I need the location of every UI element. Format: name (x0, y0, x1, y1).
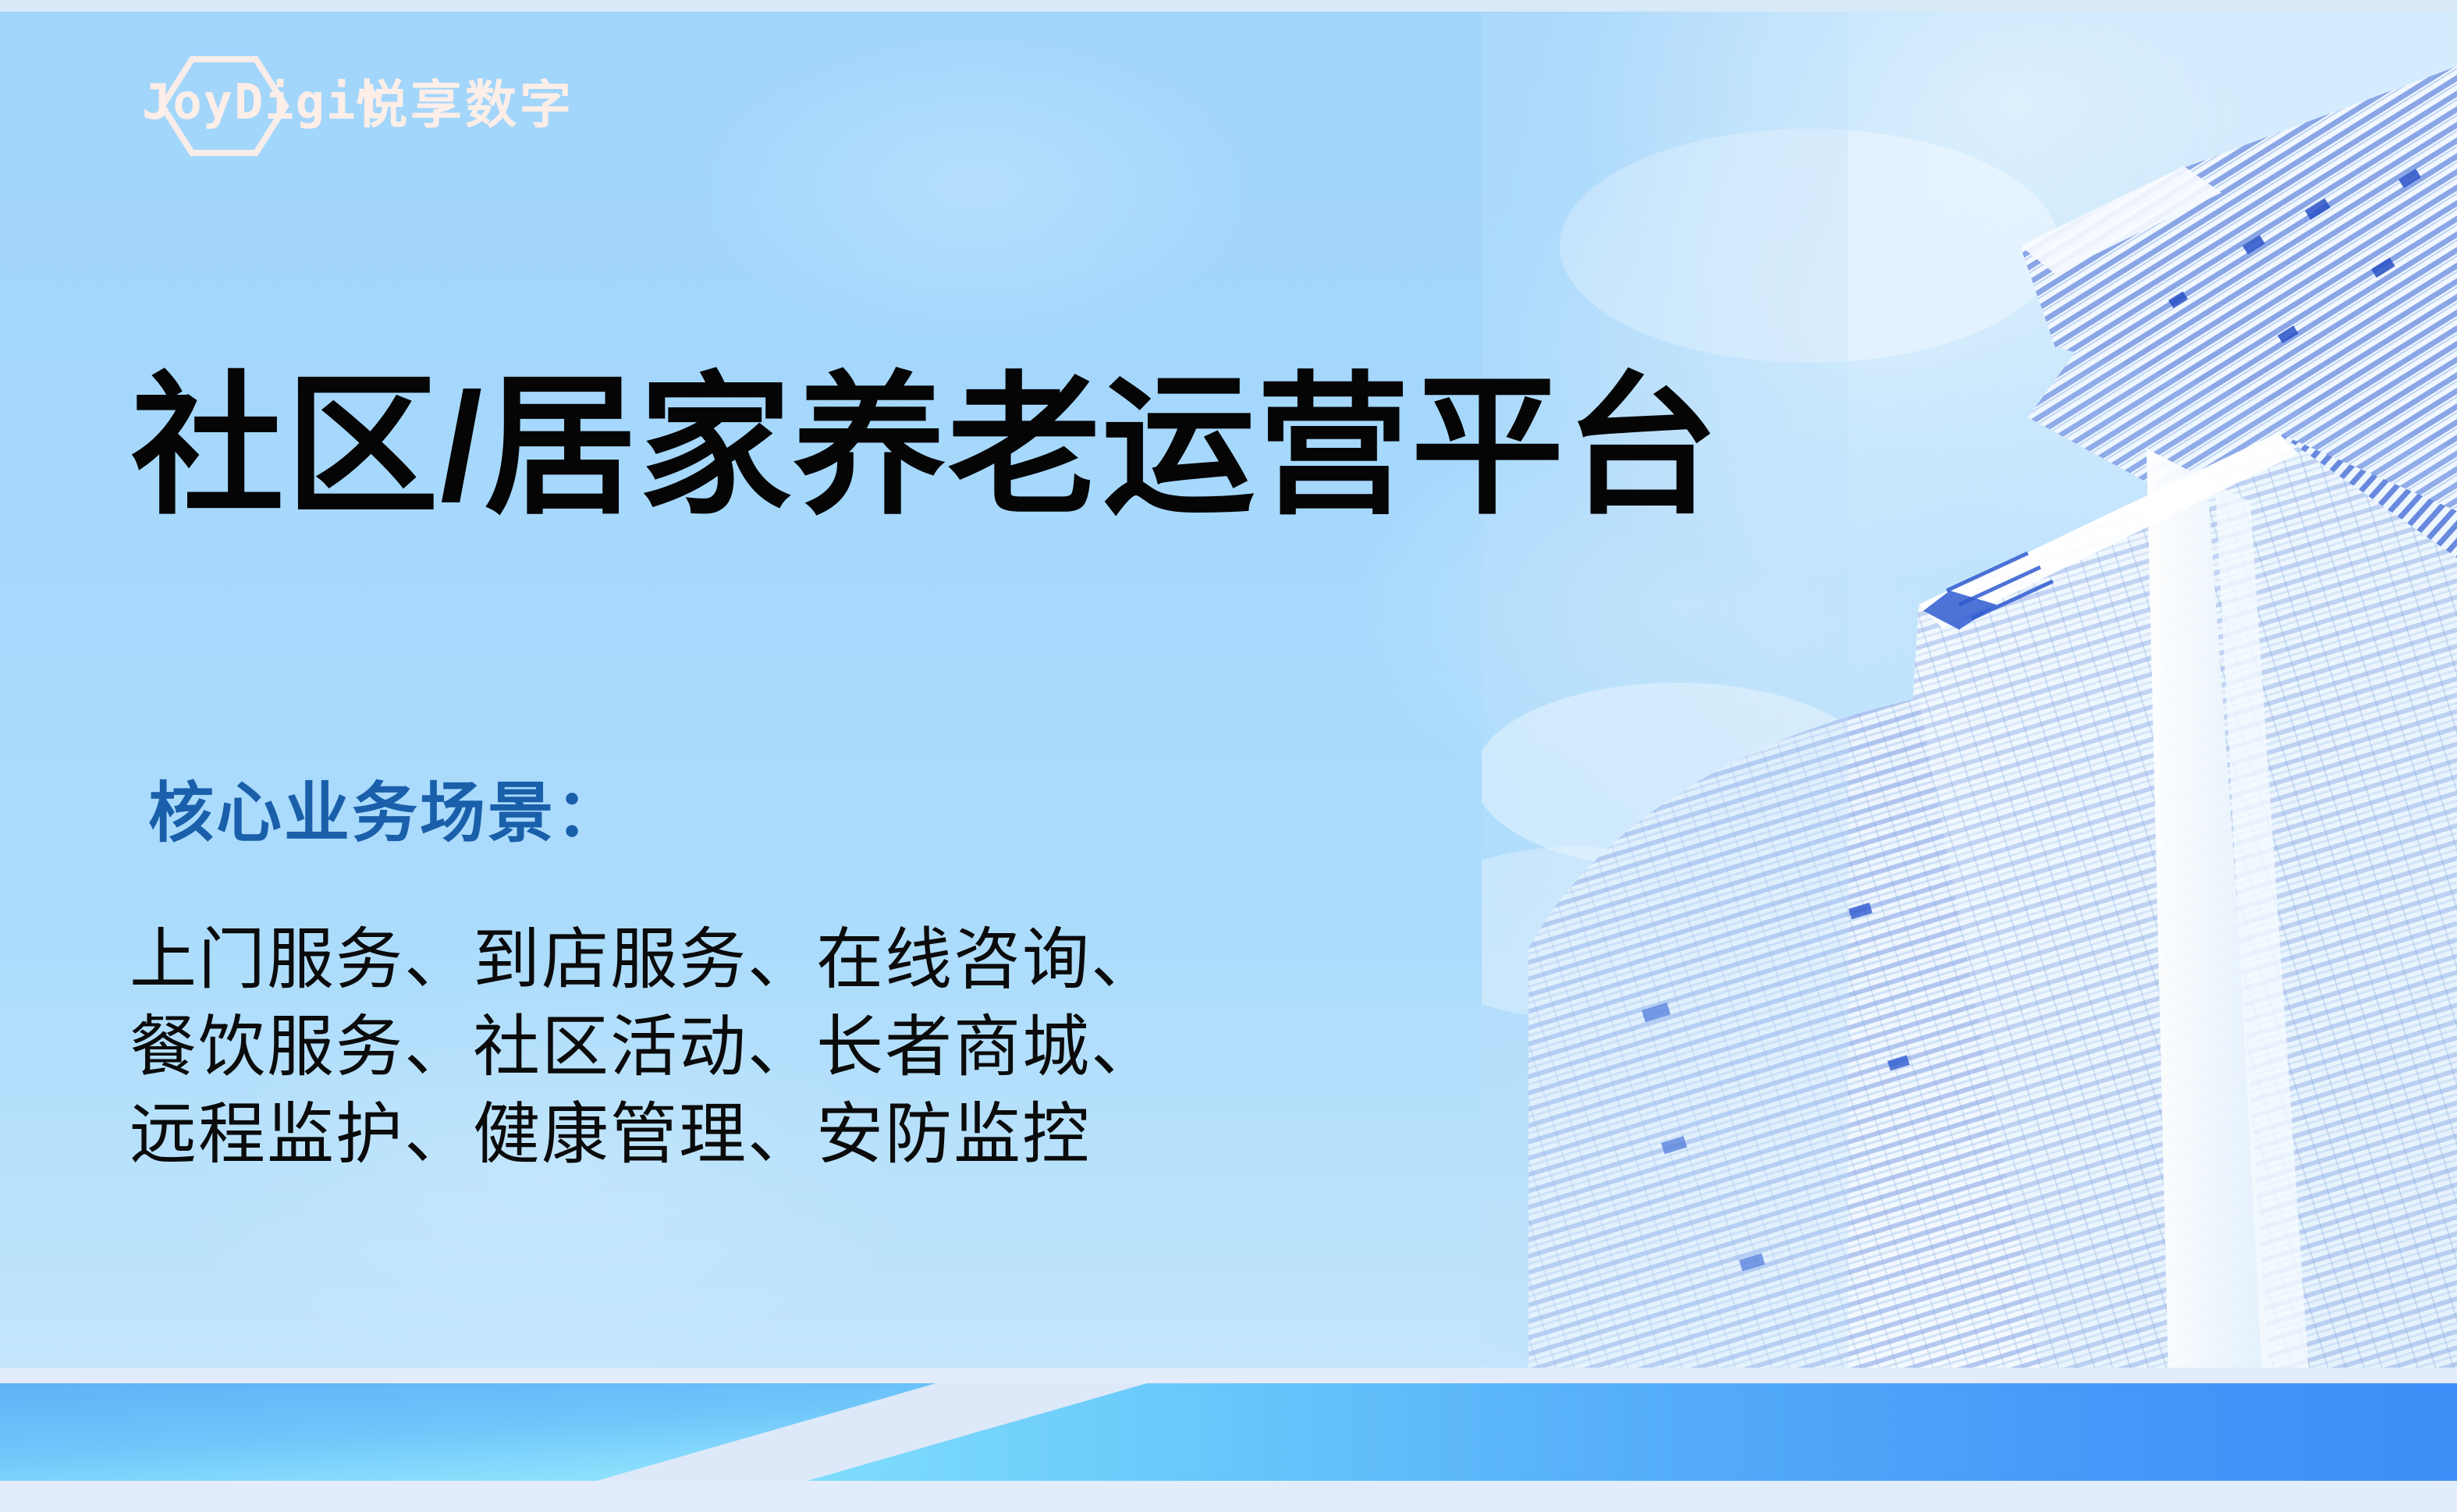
logo-chinese-name: 悦享数字 (356, 79, 574, 130)
bottom-decorative-banner (0, 1368, 2457, 1512)
brand-logo[interactable]: JoyDigit 悦享数字 (137, 67, 574, 142)
scenario-line: 餐饮服务、社区活动、长者商城、 (130, 1004, 1159, 1091)
logo-wordmark: JoyDigit (142, 78, 388, 126)
logo-mark: JoyDigit (137, 67, 325, 142)
slide-canvas: JoyDigit 悦享数字 社区/居家养老运营平台 核心业务场景： 上门服务、到… (0, 0, 2457, 1512)
scenario-line: 远程监护、健康管理、安防监控 (130, 1091, 1159, 1179)
scenario-line: 上门服务、到店服务、在线咨询、 (130, 917, 1159, 1004)
top-edge-strip (0, 0, 2457, 12)
section-label: 核心业务场景： (148, 780, 623, 846)
scenario-list: 上门服务、到店服务、在线咨询、 餐饮服务、社区活动、长者商城、 远程监护、健康管… (130, 917, 1159, 1178)
high-rise-building-photo (1482, 12, 2457, 1373)
page-title: 社区/居家养老运营平台 (131, 364, 1720, 530)
